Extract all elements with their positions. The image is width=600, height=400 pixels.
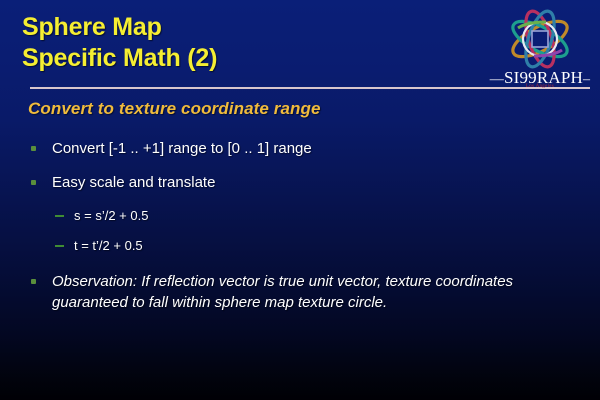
page-title: Sphere Map Specific Math (2)	[22, 12, 482, 74]
bullet-text: Convert [-1 .. +1] range to [0 .. 1] ran…	[52, 138, 578, 159]
bullet-text: Easy scale and translate	[52, 172, 578, 193]
sub-bullet-dash-icon	[55, 245, 64, 247]
siggraph-rings-icon	[488, 6, 592, 72]
slide-body: Convert [-1 .. +1] range to [0 .. 1] ran…	[0, 138, 600, 326]
logo-city-label: Los Angeles	[488, 84, 592, 89]
bullet-marker-icon	[31, 279, 36, 284]
list-item: Easy scale and translate	[0, 172, 600, 193]
sub-bullet-text: t = t’/2 + 0.5	[74, 236, 600, 255]
sub-bullet-text: s = s’/2 + 0.5	[74, 206, 600, 225]
title-line-1: Sphere Map	[22, 12, 482, 43]
bullet-marker-icon	[31, 146, 36, 151]
slide-canvas: Sphere Map Specific Math (2) —SI99RAPH– …	[0, 0, 600, 400]
bullet-marker-icon	[31, 180, 36, 185]
title-line-2: Specific Math (2)	[22, 43, 482, 74]
sub-list-item: s = s’/2 + 0.5	[0, 206, 600, 225]
bullet-text: Observation: If reflection vector is tru…	[52, 271, 578, 313]
siggraph-logo: —SI99RAPH– Los Angeles	[488, 6, 592, 92]
sub-bullet-dash-icon	[55, 215, 64, 217]
section-subtitle: Convert to texture coordinate range	[28, 99, 321, 119]
list-item: Convert [-1 .. +1] range to [0 .. 1] ran…	[0, 138, 600, 159]
sub-list-item: t = t’/2 + 0.5	[0, 236, 600, 255]
list-item: Observation: If reflection vector is tru…	[0, 271, 600, 313]
